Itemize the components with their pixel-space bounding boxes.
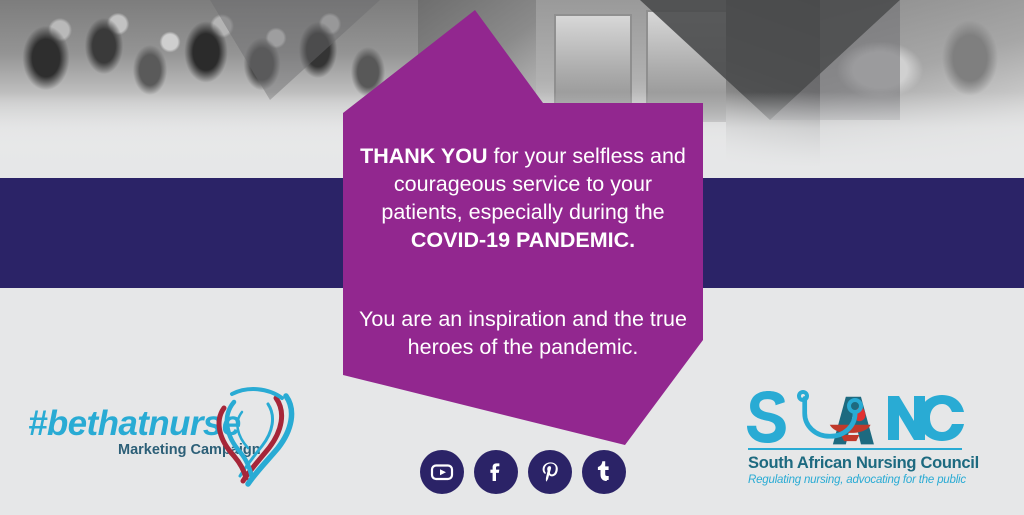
social-link-pinterest[interactable] (528, 450, 572, 494)
bethatnurse-wordmark: #bethatnurse (28, 404, 241, 444)
heart-swoosh-icon (212, 386, 298, 490)
sanc-tagline: Regulating nursing, advocating for the p… (748, 474, 962, 486)
facebook-icon (483, 459, 509, 485)
diagonal-wedge-overlay (640, 0, 900, 120)
tumblr-icon (591, 459, 617, 485)
youtube-icon (429, 459, 455, 485)
sanc-logo[interactable]: South African Nursing Council Regulating… (742, 386, 968, 490)
sanc-divider-rule (748, 448, 962, 450)
social-link-youtube[interactable] (420, 450, 464, 494)
social-link-tumblr[interactable] (582, 450, 626, 494)
social-link-facebook[interactable] (474, 450, 518, 494)
sanc-wordmark-and-mark (742, 386, 968, 450)
bethatnurse-logo[interactable]: #bethatnurse Marketing Campaign (22, 392, 284, 492)
sanc-council-name: South African Nursing Council (748, 454, 962, 473)
social-links-row[interactable] (420, 450, 626, 494)
pinterest-icon (537, 459, 563, 485)
poster-canvas: THANK YOU for your selfless and courageo… (0, 0, 1024, 515)
